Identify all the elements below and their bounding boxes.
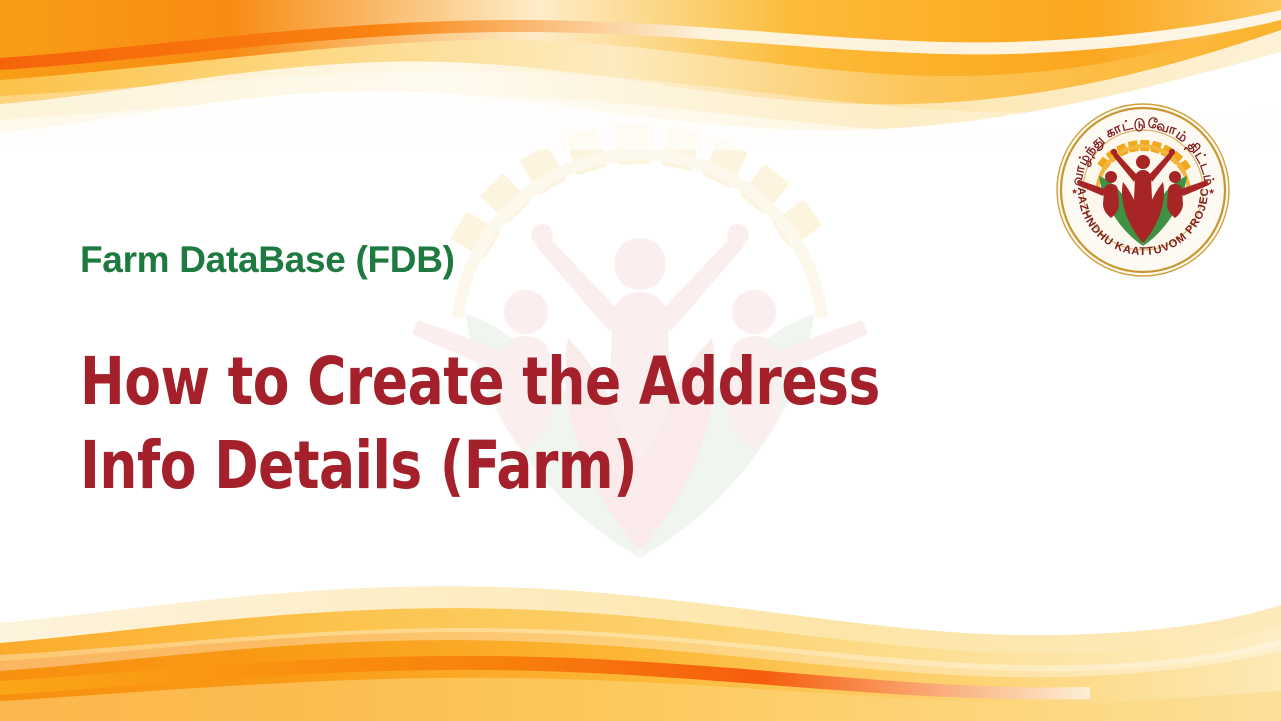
- page-title: How to Create the Address Info Details (…: [80, 340, 960, 508]
- wave-decoration-bottom: [0, 531, 1281, 721]
- page-title-line-2: Info Details (Farm): [80, 424, 872, 508]
- page-subtitle: Farm DataBase (FDB): [80, 238, 960, 282]
- logo-star-left-icon: ★: [1071, 187, 1078, 196]
- slide-canvas: Farm DataBase (FDB) How to Create the Ad…: [0, 0, 1281, 721]
- logo-star-right-icon: ★: [1208, 187, 1215, 196]
- page-title-line-1: How to Create the Address: [80, 340, 872, 424]
- title-text-block: Farm DataBase (FDB) How to Create the Ad…: [80, 238, 960, 508]
- vaazhndhu-kaattuvom-logo: வாழ்ந்து காட்டுவோம் திட்டம் VAAZHNDHU KA…: [1053, 100, 1233, 280]
